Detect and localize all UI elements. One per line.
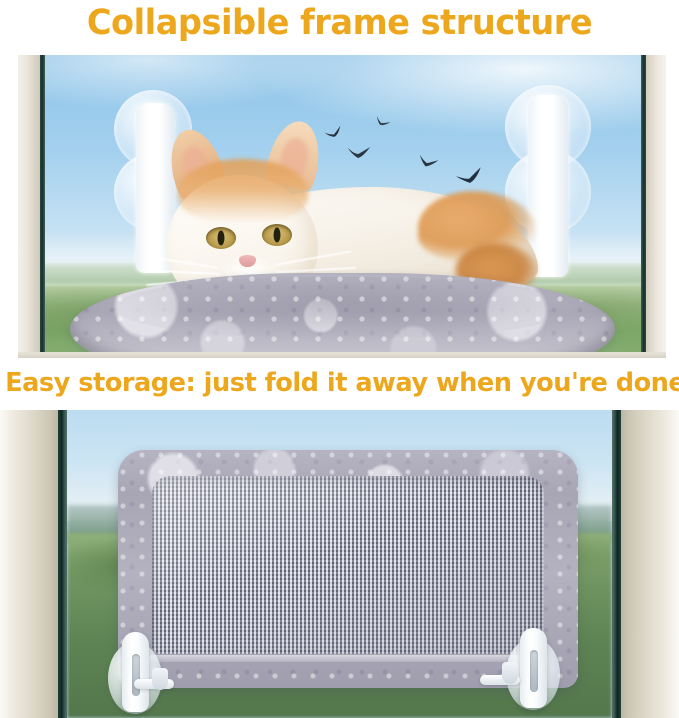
window-frame-left (18, 55, 40, 358)
window-frame-right (621, 410, 679, 718)
cat-head-marking (178, 159, 308, 223)
bracket-tab (502, 662, 518, 684)
bracket-body (520, 628, 547, 708)
window-frame-right (646, 55, 666, 358)
window-sill (18, 352, 666, 358)
folded-bed-photo (0, 410, 679, 718)
cat-eye-left (206, 227, 236, 249)
bracket-body (122, 632, 149, 712)
glass-edge-left (40, 55, 45, 358)
plush-texture (70, 273, 615, 358)
glass-edge-left (58, 410, 67, 718)
page-title-top: Collapsible frame structure (14, 6, 666, 41)
bracket-slot (530, 650, 538, 692)
suction-cup-icon (108, 632, 166, 718)
bracket-slot (132, 654, 140, 696)
cat-on-window-perch-photo (18, 55, 666, 358)
mount-arm (528, 95, 568, 277)
bed-seam (148, 655, 548, 662)
glass-edge-right (612, 410, 621, 718)
plush-bolster-bed (70, 273, 615, 358)
cat-eye-right (262, 224, 292, 246)
page-title-middle: Easy storage: just fold it away when you… (5, 370, 674, 396)
suction-cup-icon (506, 628, 564, 716)
product-image-page: Collapsible frame structure (0, 0, 679, 718)
bracket-tab (152, 668, 168, 690)
mesh-sheen (152, 476, 544, 654)
window-frame-left (0, 410, 58, 718)
glass-edge-right (641, 55, 646, 358)
mesh-panel (152, 476, 544, 654)
bird-icon (345, 144, 371, 161)
